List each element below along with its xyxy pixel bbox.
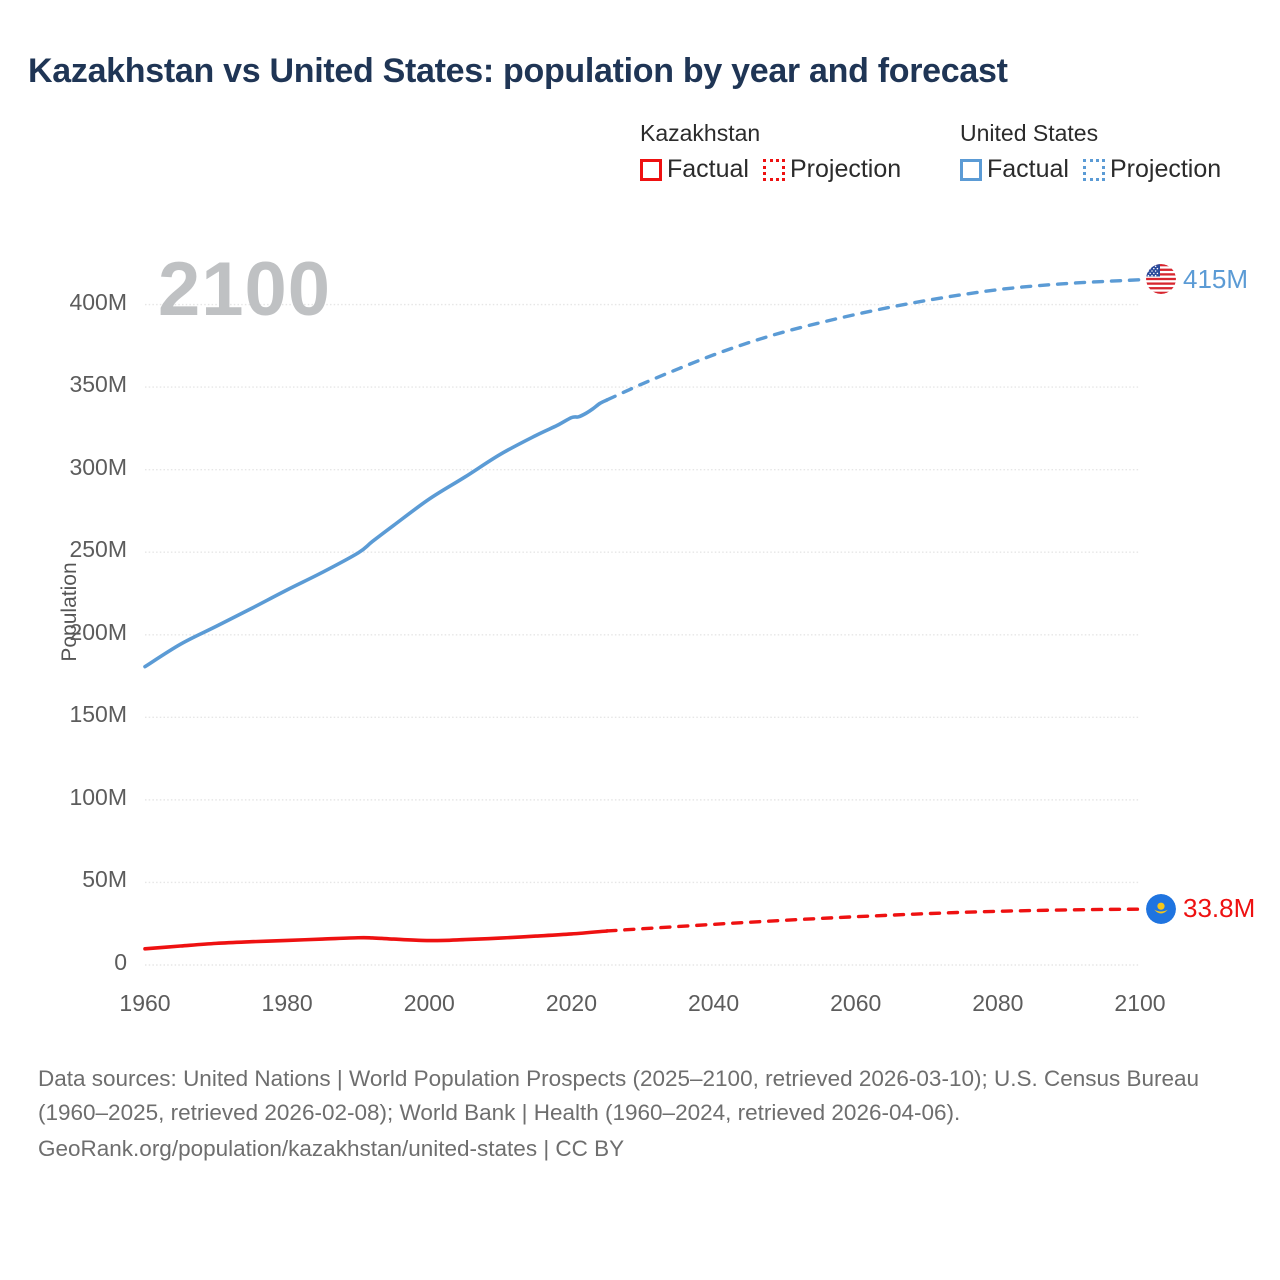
data-sources-text: Data sources: United Nations | World Pop… bbox=[38, 1062, 1238, 1130]
x-axis-tick-label: 1980 bbox=[227, 990, 347, 1017]
x-axis-tick-label: 2080 bbox=[938, 990, 1058, 1017]
series-line-kazakhstan-factual bbox=[145, 931, 607, 949]
series-line-united-states-projection bbox=[607, 280, 1140, 400]
y-axis-tick-label: 100M bbox=[0, 784, 127, 811]
series-line-united-states-factual bbox=[145, 400, 607, 667]
footer: Data sources: United Nations | World Pop… bbox=[38, 1062, 1238, 1166]
y-axis-tick-label: 350M bbox=[0, 371, 127, 398]
x-axis-tick-label: 2020 bbox=[511, 990, 631, 1017]
y-axis-tick-label: 150M bbox=[0, 701, 127, 728]
plot-area: 2100 Population 050M100M150M200M250M300M… bbox=[0, 0, 1280, 1060]
series-lines bbox=[145, 280, 1140, 949]
x-axis-tick-label: 2000 bbox=[369, 990, 489, 1017]
x-axis-tick-label: 1960 bbox=[85, 990, 205, 1017]
us-flag-icon bbox=[1146, 264, 1176, 294]
chart-canvas bbox=[0, 0, 1280, 1060]
x-axis-tick-label: 2100 bbox=[1080, 990, 1200, 1017]
gridlines bbox=[145, 305, 1140, 965]
source-link-text[interactable]: GeoRank.org/population/kazakhstan/united… bbox=[38, 1132, 1238, 1166]
end-label-kazakhstan: 33.8M bbox=[1146, 893, 1255, 924]
end-value-united-states: 415M bbox=[1183, 264, 1248, 295]
end-value-kazakhstan: 33.8M bbox=[1183, 893, 1255, 924]
chart-page: Kazakhstan vs United States: population … bbox=[0, 0, 1280, 1280]
y-axis-tick-label: 0 bbox=[0, 949, 127, 976]
y-axis-tick-label: 50M bbox=[0, 866, 127, 893]
y-axis-tick-label: 200M bbox=[0, 619, 127, 646]
kazakhstan-flag-icon bbox=[1146, 894, 1176, 924]
x-axis-tick-label: 2060 bbox=[796, 990, 916, 1017]
y-axis-tick-label: 300M bbox=[0, 454, 127, 481]
series-line-kazakhstan-projection bbox=[607, 909, 1140, 931]
watermark-year: 2100 bbox=[158, 252, 331, 328]
end-label-united-states: 415M bbox=[1146, 264, 1248, 295]
y-axis-tick-label: 250M bbox=[0, 536, 127, 563]
y-axis-tick-label: 400M bbox=[0, 289, 127, 316]
x-axis-tick-label: 2040 bbox=[654, 990, 774, 1017]
